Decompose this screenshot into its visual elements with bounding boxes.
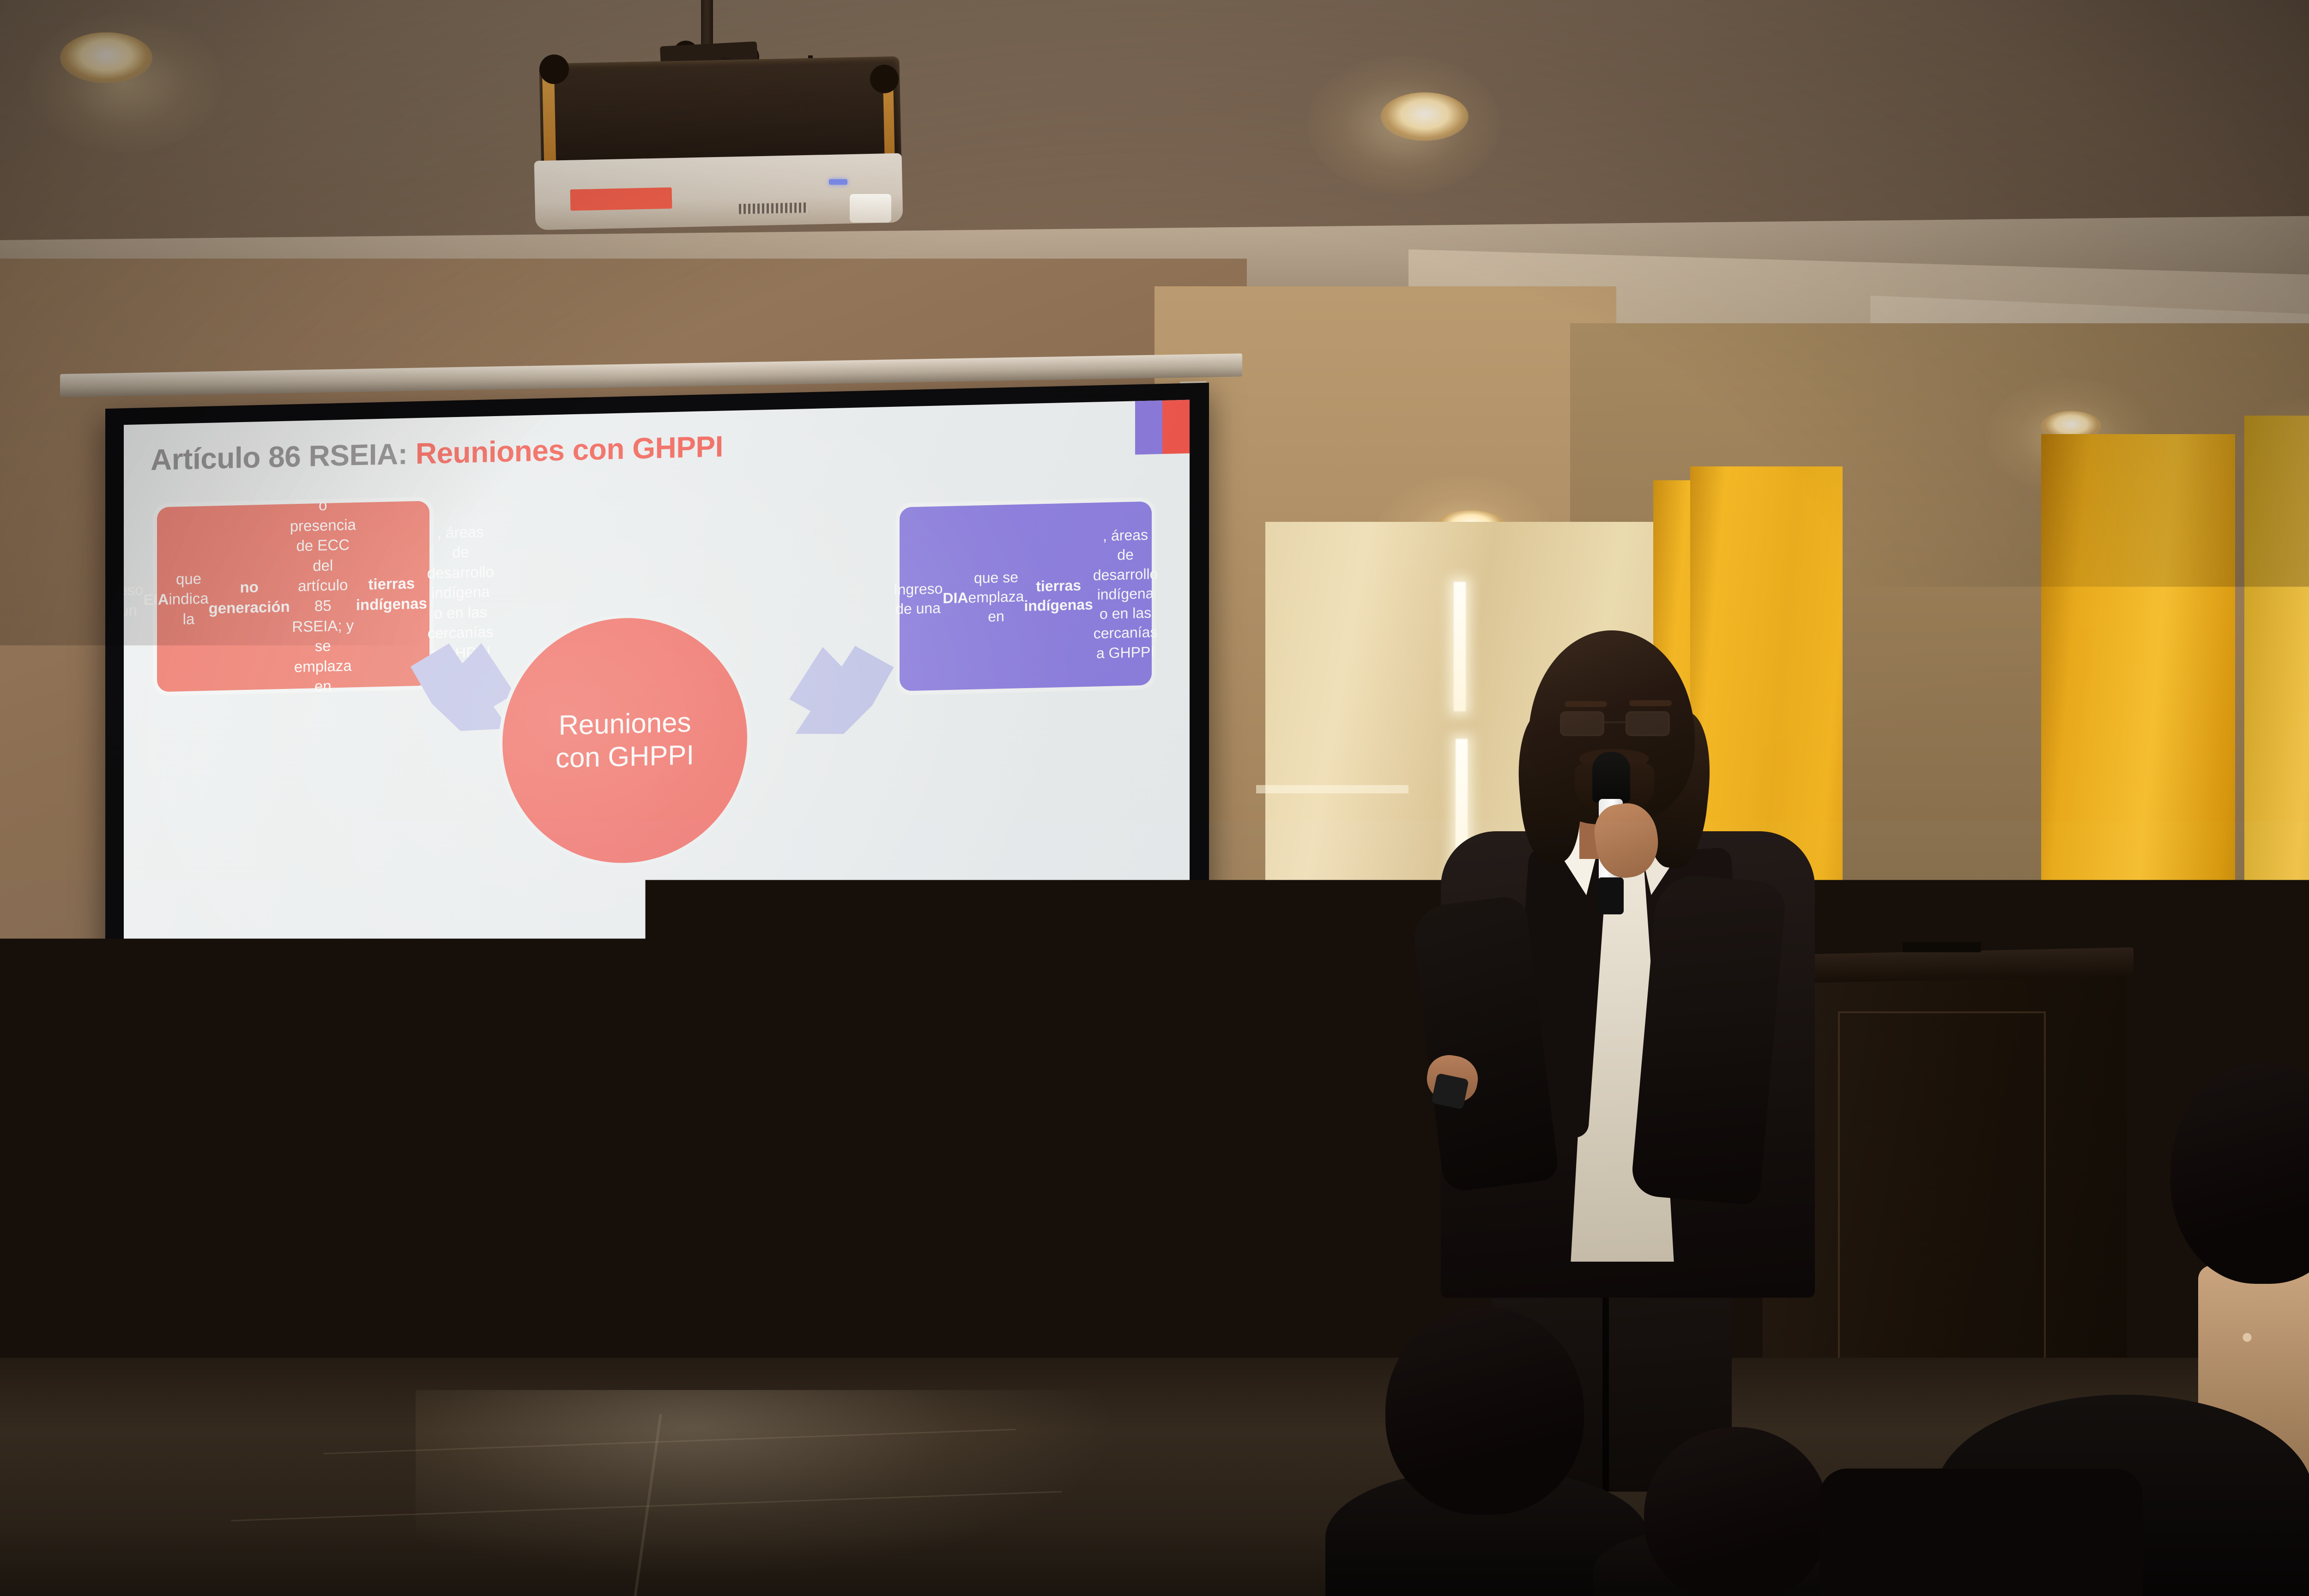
floor-light-reflection	[416, 1390, 1108, 1575]
glasses-lens-left	[1560, 711, 1604, 736]
wall-shelf-4	[1256, 1219, 1408, 1227]
wall-shelf-3	[1256, 1076, 1408, 1084]
wall-shelf-1	[1256, 785, 1408, 793]
downlight-2	[1381, 92, 1469, 141]
logo-bar-red	[1162, 400, 1190, 454]
logo-bar-orange-bottom	[1159, 1149, 1181, 1189]
projector-foot-left	[539, 54, 569, 84]
projector-foot-right	[870, 65, 899, 93]
audience-member-2-head	[1644, 1427, 1829, 1596]
audience-member-5-silhouette	[1819, 1469, 2143, 1596]
diagram-box-dia: Ingreso de una DIA que se emplaza en tie…	[900, 502, 1152, 691]
microphone-tail	[1598, 877, 1624, 914]
projector-lens	[850, 194, 891, 223]
glasses-lens-right	[1626, 711, 1670, 736]
slide-title-prefix: Artículo 86 RSEIA:	[151, 437, 416, 477]
logo-bar-purple	[1135, 400, 1162, 454]
lectern-object	[1903, 942, 1981, 952]
presenter-brow-right	[1629, 700, 1672, 706]
curtain-light-slit-1	[1454, 582, 1466, 711]
slide: Artículo 86 RSEIA: Reuniones con GHPPI I…	[124, 400, 1190, 1221]
audience-member-4-head	[2000, 1122, 2286, 1445]
arrow-left-to-center-icon	[405, 635, 520, 737]
presenter-leg-gap	[1602, 1275, 1609, 1492]
projection-screen-frame: Artículo 86 RSEIA: Reuniones con GHPPI I…	[105, 383, 1209, 1240]
logo-bar-purple-bottom	[1136, 1149, 1159, 1190]
projector-brand-stripe	[570, 187, 672, 211]
glasses-bridge	[1604, 721, 1626, 723]
projector-status-led	[829, 179, 847, 185]
center-node-line1: Reuniones	[556, 706, 694, 742]
presenter-brow-left	[1565, 701, 1607, 707]
logo-bottom-right	[1136, 1149, 1181, 1190]
slide-title: Artículo 86 RSEIA: Reuniones con GHPPI	[151, 429, 723, 477]
presentation-clicker[interactable]	[1431, 1073, 1469, 1109]
diagram-box-eia: Ingreso de un EIA que indica la no gener…	[157, 501, 429, 692]
logo-top-right	[1135, 400, 1190, 455]
downlight-1	[60, 32, 152, 83]
wall-shelf-2	[1256, 928, 1408, 937]
slide-page-number: 2	[1115, 1166, 1121, 1180]
projector-grille	[739, 202, 808, 214]
diagram-box-opiniones: Recoger opiniones de los GHPPI, analizar…	[201, 944, 451, 1116]
diagram-center-node: Reuniones con GHPPI	[502, 615, 747, 865]
arrow-right-to-center-icon	[784, 637, 900, 739]
microphone-head[interactable]	[1592, 752, 1630, 803]
diagram-box-icsara: En caso de no corresponder, podría ser f…	[487, 942, 749, 1111]
presentation-photo-scene: Artículo 86 RSEIA: Reuniones con GHPPI I…	[0, 0, 2309, 1596]
socket-status-led	[753, 1329, 760, 1336]
projection-screen-surface: Artículo 86 RSEIA: Reuniones con GHPPI I…	[124, 400, 1190, 1221]
center-node-line2: con GHPPI	[556, 739, 694, 775]
presenter-glasses-icon	[1560, 711, 1673, 737]
audience-member-1-head	[1385, 1307, 1584, 1515]
slide-title-accent: Reuniones con GHPPI	[416, 429, 723, 470]
